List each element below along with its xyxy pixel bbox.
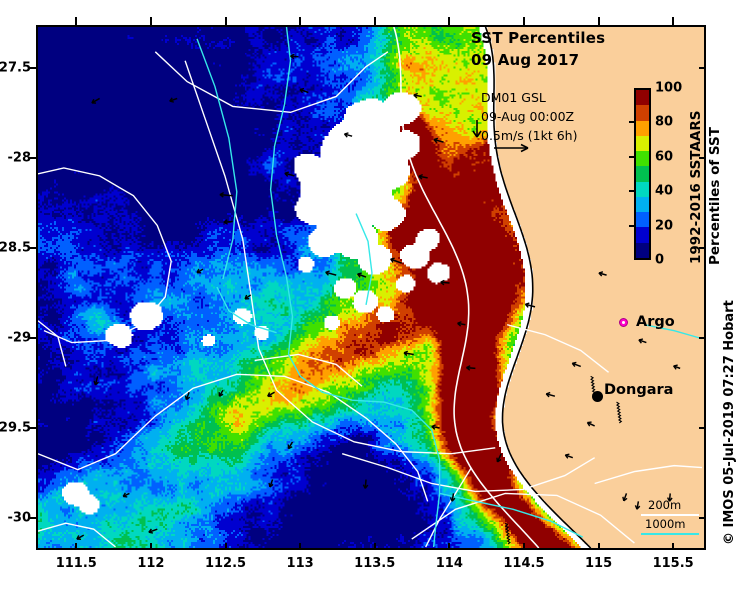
isobath-200m <box>507 325 608 373</box>
x-axis-tick-mark <box>150 17 152 25</box>
isobath-1000m <box>440 493 583 537</box>
current-vector-barb <box>497 454 501 462</box>
colorbar-segment <box>636 90 649 105</box>
colorbar-segment <box>636 121 649 136</box>
current-vector-barb <box>432 425 440 429</box>
colorbar-tick-label: 0 <box>655 253 664 268</box>
colorbar-gradient <box>634 88 651 260</box>
isobath-200m <box>38 374 428 501</box>
city-dot-marker[interactable] <box>592 391 603 402</box>
x-axis-tick-mark <box>448 543 450 550</box>
current-vector-barb <box>300 89 308 93</box>
x-axis-tick-label: 115 <box>585 556 612 571</box>
x-axis-tick-mark <box>523 543 525 550</box>
isobath-1000m <box>356 214 372 305</box>
current-vector-barb <box>546 393 555 397</box>
depth-legend-label-1000m: 1000m <box>645 517 685 531</box>
colorbar-tick-mark <box>629 121 634 123</box>
place-label-argo: Argo <box>636 314 675 330</box>
isobath-200m <box>412 493 635 543</box>
colorbar-tick-mark <box>629 190 634 192</box>
current-vector-barb <box>77 535 84 539</box>
y-axis-tick-mark <box>699 517 706 519</box>
x-axis-tick-mark <box>299 543 301 550</box>
map-title-line1: SST Percentiles <box>471 29 605 47</box>
isobath-1000m <box>288 354 439 547</box>
y-axis-tick-mark <box>699 157 706 159</box>
current-vector-barb <box>268 392 275 396</box>
colorbar-segment <box>636 105 649 120</box>
colorbar-tick-label: 60 <box>655 149 673 164</box>
isobath-1000m <box>197 39 237 279</box>
isobath-200m <box>38 321 66 367</box>
y-axis-tick-mark <box>28 67 36 69</box>
current-vector-barb <box>358 273 366 277</box>
current-vector-barb <box>170 98 177 102</box>
colorbar-label-variable: Percentiles of SST <box>707 127 723 265</box>
imos-credit: © IMOS 05-Jul-2019 07:27 Hobart <box>722 300 737 545</box>
velocity-key-barb-icon <box>468 118 490 142</box>
isobath-1000m <box>271 27 293 354</box>
annotation-timestamp: 09-Aug 00:00Z <box>481 109 574 124</box>
isobath-200m <box>426 468 472 547</box>
current-vector-barb <box>288 442 292 449</box>
current-vector-barb <box>466 366 475 370</box>
x-axis-tick-label: 113 <box>287 556 314 571</box>
y-axis-tick-mark <box>699 247 706 249</box>
colorbar-tick-label: 40 <box>655 184 673 199</box>
y-axis-tick-label: -27.5 <box>0 61 31 76</box>
x-axis-tick-mark <box>672 17 674 25</box>
x-axis-tick-mark <box>672 543 674 550</box>
current-vector-barb <box>599 272 607 276</box>
colorbar-tick-mark <box>629 225 634 227</box>
colorbar-segment <box>636 151 649 166</box>
x-axis-tick-mark <box>374 543 376 550</box>
y-axis-tick-mark <box>28 427 36 429</box>
current-vector-barb <box>525 303 535 307</box>
current-vector-barb <box>565 454 572 458</box>
map-vector-overlay <box>38 27 704 548</box>
isobath-200m <box>595 466 702 484</box>
x-axis-tick-mark <box>150 543 152 550</box>
y-axis-tick-mark <box>699 427 706 429</box>
current-vector-barb <box>391 258 402 263</box>
colorbar-segment <box>636 166 649 181</box>
current-vector-barb <box>290 54 298 58</box>
isobath-1000m <box>217 287 277 333</box>
x-axis-tick-mark <box>75 543 77 550</box>
colorbar-segment <box>636 227 649 242</box>
y-axis-tick-mark <box>699 337 706 339</box>
colorbar-segment <box>636 243 649 258</box>
velocity-key-arrow-icon <box>492 141 538 155</box>
y-axis-tick-mark <box>699 67 706 69</box>
current-vector-barb <box>219 390 223 396</box>
colorbar-label-climatology: 1992-2016 SSTAARS <box>688 111 704 264</box>
x-axis-tick-label: 114.5 <box>503 556 544 571</box>
current-vector-barb <box>635 501 639 509</box>
x-axis-tick-mark <box>448 17 450 25</box>
x-axis-tick-label: 112.5 <box>205 556 246 571</box>
current-vector-barb <box>224 220 233 224</box>
isobath-200m <box>38 168 171 343</box>
current-vector-barb <box>245 295 251 299</box>
depth-legend-line-1000m <box>641 533 699 535</box>
current-vector-barb <box>197 269 203 273</box>
y-axis-tick-mark <box>28 157 36 159</box>
colorbar-tick-label: 100 <box>655 81 682 96</box>
x-axis-tick-mark <box>523 17 525 25</box>
x-axis-tick-label: 111.5 <box>56 556 97 571</box>
x-axis-tick-label: 114 <box>436 556 463 571</box>
isobath-200m <box>185 61 495 454</box>
depth-legend-label-200m: 200m <box>648 498 681 512</box>
argo-circle-marker[interactable] <box>619 318 628 327</box>
annotation-instrument: DM01 GSL <box>481 90 546 105</box>
x-axis-tick-mark <box>75 17 77 25</box>
y-axis-tick-label: -28.5 <box>0 240 31 255</box>
current-vector-barb <box>363 480 367 489</box>
current-vector-barb <box>344 133 352 137</box>
colorbar-segment <box>636 136 649 151</box>
colorbar-segment <box>636 212 649 227</box>
x-axis-tick-mark <box>598 543 600 550</box>
depth-legend-line-200m <box>641 514 699 516</box>
isobath-200m <box>155 52 388 113</box>
x-axis-tick-label: 113.5 <box>354 556 395 571</box>
y-axis-tick-mark <box>28 247 36 249</box>
sst-percentile-map-figure: SST Percentiles 09 Aug 2017 DM01 GSL 09-… <box>0 0 739 592</box>
current-vector-barb <box>269 480 273 487</box>
colorbar-segment <box>636 182 649 197</box>
y-axis-tick-mark <box>28 337 36 339</box>
x-axis-tick-mark <box>225 17 227 25</box>
map-plot-area[interactable] <box>36 25 706 550</box>
colorbar-tick-label: 80 <box>655 115 673 130</box>
colorbar-tick-mark <box>629 156 634 158</box>
current-vector-barb <box>674 365 681 369</box>
map-title-line2: 09 Aug 2017 <box>471 51 579 69</box>
current-vector-barb <box>587 422 594 426</box>
current-vector-barb <box>458 322 466 326</box>
y-axis-tick-mark <box>28 517 36 519</box>
current-vector-barb <box>149 529 157 533</box>
current-vector-barb <box>572 362 580 366</box>
current-vector-barb <box>94 376 98 385</box>
current-vector-barb <box>434 138 444 142</box>
glider-track-squiggle <box>505 523 510 544</box>
current-vector-barb <box>285 172 295 176</box>
current-vector-barb <box>414 93 422 97</box>
x-axis-tick-mark <box>374 17 376 25</box>
x-axis-tick-label: 112 <box>137 556 164 571</box>
current-vector-barb <box>419 175 428 179</box>
x-axis-tick-mark <box>225 543 227 550</box>
current-vector-barb <box>623 493 627 500</box>
glider-track-squiggle <box>617 402 622 423</box>
place-label-dongara: Dongara <box>604 382 673 398</box>
colorbar-segment <box>636 197 649 212</box>
current-vector-barb <box>92 98 100 103</box>
current-vector-barb <box>639 339 646 343</box>
colorbar-tick-label: 20 <box>655 218 673 233</box>
x-axis-tick-mark <box>299 17 301 25</box>
current-vector-barb <box>441 280 450 284</box>
y-axis-tick-label: -29.5 <box>0 420 31 435</box>
x-axis-tick-mark <box>598 17 600 25</box>
current-vector-barb <box>404 351 414 355</box>
current-vector-barb <box>123 493 129 497</box>
x-axis-tick-label: 115.5 <box>653 556 694 571</box>
current-vector-barb <box>326 271 337 275</box>
